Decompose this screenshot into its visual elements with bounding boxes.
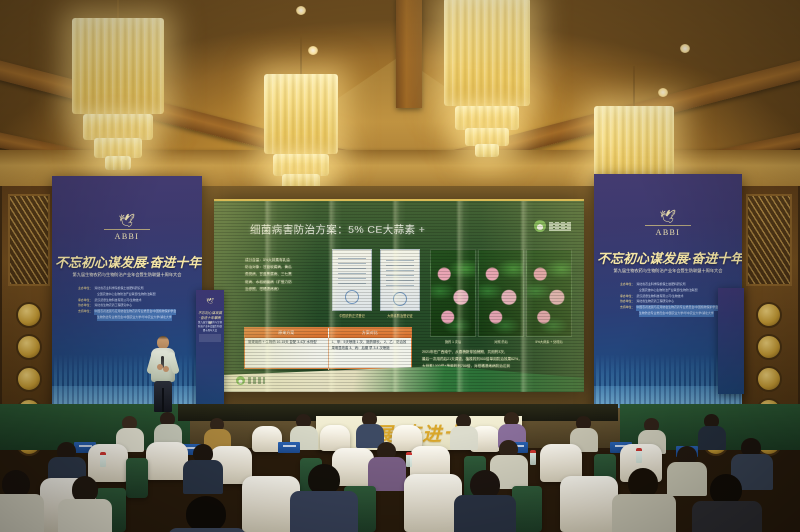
trial-photo-caption: 施药 1 次后 (430, 339, 476, 344)
spec-line: 治参照、柑橘溃疡病） (245, 286, 323, 293)
ceiling-ridge-beam (396, 0, 422, 108)
water-bottle (406, 452, 412, 467)
dove-icon: 🕊 (206, 298, 214, 305)
gold-medallion (16, 334, 42, 360)
gold-medallion (756, 366, 782, 392)
conference-hall-photo: EXIT 细菌病害防治方案：5% CE大蒜素 + 成分含量：5%大蒜素有乳油 防… (0, 0, 800, 532)
trial-photo-captions: 施药 1 次后 对照 药后 5%大蒜素 + 处理后 (430, 339, 572, 344)
credit-value: 生物防治专业委员会/中国农业大学/华中农业大学/湖北大学 (97, 315, 172, 321)
person-body (667, 462, 707, 496)
gold-medallion (16, 366, 42, 392)
slide-spec-block: 成分含量：5%大蒜素有乳油 防治对象：甘蓝软腐病、黄瓜 角斑病、甘蓝黑腐病、三七… (245, 257, 323, 293)
comparison-table: 原来方案 方案对比 常规用药 + 生物药 10-15天 复配 3-4次 水剂型 … (244, 327, 412, 369)
chandelier-tier (72, 18, 164, 114)
chandelier-tier (455, 106, 519, 130)
chandelier (262, 74, 340, 194)
certificate-image (332, 249, 372, 311)
chandelier (442, 0, 532, 144)
person-body (0, 494, 44, 532)
conclusion-line: 2021年在广西南宁，从春梢新芽抽梢期，共用药3次， (422, 349, 574, 356)
chandelier-cord (633, 66, 635, 110)
person-body (183, 460, 223, 494)
spec-line: 斑病、水稻细菌病（扩登力防 (245, 279, 323, 286)
dove-icon: 🕊 (119, 214, 136, 227)
certificate-caption: 大蒜素防治登记证 (372, 313, 428, 318)
chair (88, 444, 128, 482)
side-banner-credit-block (199, 334, 221, 342)
trial-photo (430, 249, 476, 337)
person-body (450, 426, 478, 450)
table-cell-original: 常规用药 + 生物药 10-15天 复配 3-4次 水剂型 (245, 338, 329, 370)
dove-icon: 🕊 (660, 210, 677, 223)
trial-photo (526, 249, 572, 337)
ceiling-spot-light (308, 46, 318, 55)
gold-medallion (756, 334, 782, 360)
leaf-circle-icon (236, 376, 245, 385)
table-header-cell: 方案对比 (329, 328, 412, 338)
person-body (290, 491, 358, 532)
chandelier-tier (273, 154, 329, 176)
chandelier-cord (300, 34, 302, 78)
carved-screen-panel (8, 194, 50, 286)
chandelier-tier (264, 74, 338, 154)
person-body (692, 501, 762, 532)
banner-credits: 主办单位： 湖北省农业科学院植保土壤肥料研究所 全国农技中心生物防治产业联盟/生… (620, 282, 718, 317)
name-card (278, 442, 300, 453)
credit-value: 生物防治专业委员会/中国农业大学/华中农业大学/湖北大学 (639, 311, 714, 317)
certificate-image (380, 249, 420, 311)
chair (146, 442, 188, 480)
banner-headline: 不忘初心谋发展·奋进十年攀高峰 (55, 252, 199, 271)
person-body (454, 495, 516, 532)
brand-wordmark-icon (549, 222, 571, 231)
leaf-circle-icon (534, 220, 546, 232)
person-body (698, 426, 726, 450)
rollup-banner-left: 🕊 ABBI 不忘初心谋发展·奋进十年攀高峰 第九届生物农药与生物防治产业年会暨… (52, 176, 202, 412)
chair (560, 476, 618, 532)
speaker-hand-right (163, 366, 169, 372)
table-header-row: 原来方案 方案对比 (245, 328, 411, 338)
trial-photo (478, 249, 524, 337)
audience-area (0, 392, 800, 532)
stage-side-banner-right (718, 288, 744, 394)
chandelier (70, 18, 166, 168)
ceiling-spot-light (658, 88, 668, 97)
water-bottle (530, 450, 536, 465)
table-cell-comparison: 1、甲：5天喷施 1 次，施药期长。 2、乙：防治效果明显改善 3、丙：后期 早… (329, 338, 412, 370)
brand-wordmark-icon (248, 377, 265, 384)
conclusion-line: 最后一次用药后21天调查，植株药剂900倍单用防治效果62%， (422, 356, 574, 363)
water-bottle (100, 452, 106, 467)
water-bottle (636, 448, 642, 463)
slide-canvas: 细菌病害防治方案：5% CE大蒜素 + 成分含量：5%大蒜素有乳油 防治对象：甘… (214, 201, 584, 392)
spec-line: 防治对象：甘蓝软腐病、黄瓜 (245, 264, 323, 271)
banner-subline: 第九届生物农药与生物防治产业年会暨生防联盟十周年大会 (55, 272, 199, 278)
chandelier-tier (105, 156, 131, 170)
abbi-logo-text: ABBI (115, 232, 140, 241)
credit-row: 生物防治专业委员会/中国农业大学/华中农业大学/湖北大学 (620, 311, 718, 317)
person-head (186, 496, 226, 532)
gold-medallion (756, 302, 782, 328)
chandelier-tier (475, 144, 499, 157)
chandelier-tier (94, 138, 142, 158)
carved-screen-panel (746, 194, 792, 286)
person-body (58, 499, 112, 532)
chandelier-tier (444, 0, 530, 106)
table-header-cell: 原来方案 (245, 328, 329, 338)
banner-subline: 第九届生物农药与生物防治产业年会暨生防联盟十周年大会 (597, 268, 739, 274)
slide-footer-logo (236, 376, 265, 385)
ceiling-spot-light (680, 44, 690, 53)
person-body (168, 528, 246, 532)
slide-title: 细菌病害防治方案：5% CE大蒜素 + (250, 222, 425, 237)
spec-line: 成分含量：5%大蒜素有乳油 (245, 257, 323, 264)
banner-headline: 不忘初心谋发展·奋进十年攀高峰 (597, 248, 739, 267)
person-body (612, 494, 676, 532)
stage-side-banner-left: 🕊 不忘初心谋发展·奋进十年攀高峰 第九届生物农药与生物防治产业年会暨生防联盟十… (196, 290, 224, 408)
credit-row: 生物防治专业委员会/中国农业大学/华中农业大学/湖北大学 (78, 315, 176, 321)
field-trial-photos (430, 249, 572, 337)
trial-photo-caption: 5%大蒜素 + 处理后 (526, 339, 572, 344)
spec-line: 角斑病、甘蓝黑腐病、三七黑 (245, 271, 323, 278)
ceiling-spot-light (296, 6, 306, 15)
side-banner-subline: 第九届生物农药与生物防治产业年会暨生防联盟十周年大会 (198, 320, 222, 332)
slide-brand-logo (534, 220, 571, 232)
chair-back-dark (512, 486, 542, 532)
chair-back-dark (126, 458, 148, 498)
gold-medallion (16, 302, 42, 328)
chandelier-tier (83, 114, 153, 140)
banner-credits: 主办单位： 湖北省农业科学院植保土壤肥料研究所 全国农技中心生物防治产业联盟/生… (78, 286, 176, 321)
abbi-logo-text: ABBI (656, 228, 681, 237)
led-presentation-screen: 细菌病害防治方案：5% CE大蒜素 + 成分含量：5%大蒜素有乳油 防治对象：甘… (214, 199, 584, 392)
table-body-row: 常规用药 + 生物药 10-15天 复配 3-4次 水剂型 1、甲：5天喷施 1… (245, 338, 411, 370)
trial-photo-caption: 对照 药后 (478, 339, 524, 344)
